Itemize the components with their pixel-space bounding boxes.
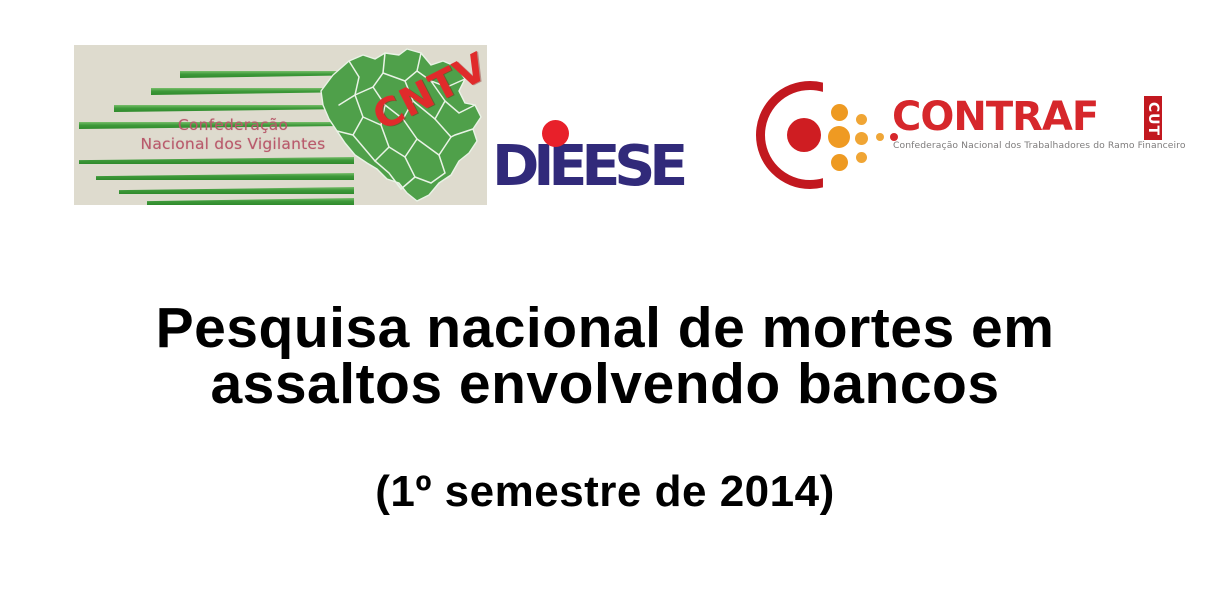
logo-band: Confederação Nacional dos Vigilantes <box>0 0 1210 230</box>
dot-large-red <box>787 118 821 152</box>
dot-orange-1 <box>831 104 848 121</box>
contraf-wordmark: CONTRAF <box>892 96 1098 138</box>
contraf-logo: CONTRAF CUT Confederação Nacional dos Tr… <box>752 78 1176 190</box>
red-dot-icon <box>542 120 569 147</box>
contraf-subtitle: Confederação Nacional dos Trabalhadores … <box>893 140 1186 151</box>
title-block: Pesquisa nacional de mortes em assaltos … <box>0 300 1210 516</box>
dot-orange-4 <box>856 114 867 125</box>
dot-orange-small <box>876 133 884 141</box>
dieese-wordmark: DIEESE <box>492 136 682 198</box>
dot-orange-2 <box>828 126 850 148</box>
dot-orange-6 <box>856 152 867 163</box>
cut-label: CUT <box>1145 97 1161 141</box>
page-title: Pesquisa nacional de mortes em assaltos … <box>0 300 1210 412</box>
cntv-logo: Confederação Nacional dos Vigilantes <box>74 45 487 205</box>
presentation-title-slide: Confederação Nacional dos Vigilantes <box>0 0 1210 602</box>
dot-orange-3 <box>831 154 848 171</box>
cut-badge: CUT <box>1144 96 1162 140</box>
dieese-logo: DIEESE <box>492 136 757 202</box>
dot-orange-5 <box>855 132 868 145</box>
page-subtitle: (1º semestre de 2014) <box>0 412 1210 516</box>
